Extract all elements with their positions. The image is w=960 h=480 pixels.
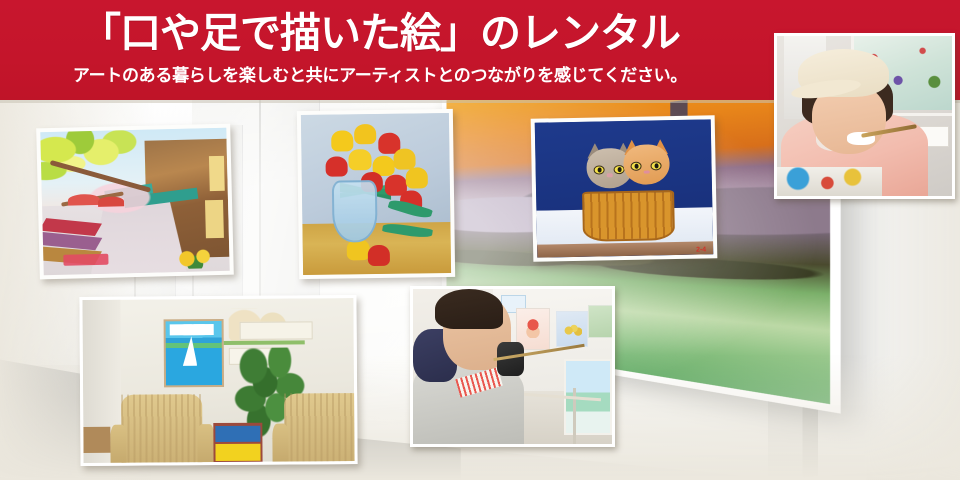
shop-window [209,156,225,192]
cat-pupil [598,167,602,172]
red-umbrella [98,196,124,207]
cat-pupil [635,164,639,169]
man-painting-with-mouth-photo[interactable] [410,286,615,447]
waiting-room-content [82,298,354,463]
tulip-yellow [405,168,427,189]
sailboat-painting [166,321,222,386]
man-hair [435,289,503,329]
gallery-artwork [588,305,612,338]
wicker-basket [582,190,675,242]
artist-signature: 2-4 [696,246,706,253]
waiting-room-photo[interactable] [79,295,357,466]
cat-head [623,144,670,185]
kitten-ginger [623,139,670,191]
kittens-in-basket-painting[interactable]: 2-4 [531,115,718,262]
armchair-right [284,393,355,463]
magazine-rack [213,423,262,463]
cat-nose [607,174,613,177]
cat-nose [644,170,650,173]
glass-vase [331,180,377,242]
wall-certificate [240,321,313,340]
chair-fabric-stripes [284,393,355,463]
poster-canvas: 「口や足で描いた絵」のレンタル アートのある暮らしを楽しむと共にアーティストとの… [0,0,960,480]
chair-arm [110,424,127,463]
chair-arm [272,423,289,463]
page-title: 「口や足で描いた絵」のレンタル [0,8,760,58]
flower-planter [173,248,218,269]
woman-painting-with-mouth-photo[interactable] [774,33,955,199]
artist-photo-content [413,289,612,444]
cat-eye [631,161,642,170]
page-subtitle: アートのある暮らしを楽しむと共にアーティストとのつながりを感じてください。 [0,64,760,88]
cat-eye [594,165,605,174]
armchair-left [121,394,203,463]
sailboat-sail [183,336,198,366]
tulip-yellow [331,130,353,151]
paint-palette [777,167,882,196]
tulip-yellow [354,124,376,145]
sailboat-painting-frame [164,319,224,388]
tulip-yellow [349,149,371,170]
magazine [215,426,260,442]
chair-arm [198,424,215,463]
gallery-artwork [556,311,588,347]
tulips-canvas [301,113,451,275]
shop-window [205,200,224,238]
woman-photo-content [777,36,952,196]
artwork-motif [563,319,582,341]
cat-pupil [618,167,622,172]
artwork-motif [524,316,542,339]
green-shelf [224,341,305,346]
tulips-painting[interactable] [297,109,455,279]
kittens-canvas: 2-4 [535,119,714,257]
tulip-yellow [393,149,415,170]
street-scene-canvas [40,128,229,276]
tulip-red [368,245,390,266]
magazine [216,444,261,461]
wooden-shelf [537,241,713,258]
chair-fabric-stripes [121,394,203,463]
cat-pupil [655,163,659,168]
red-umbrella [68,194,100,206]
clouds [169,324,214,335]
shop-sign [64,254,109,267]
side-table [83,427,110,453]
street-scene-painting[interactable] [36,124,234,280]
cat-eye [651,161,662,170]
tulip-red [325,156,347,177]
